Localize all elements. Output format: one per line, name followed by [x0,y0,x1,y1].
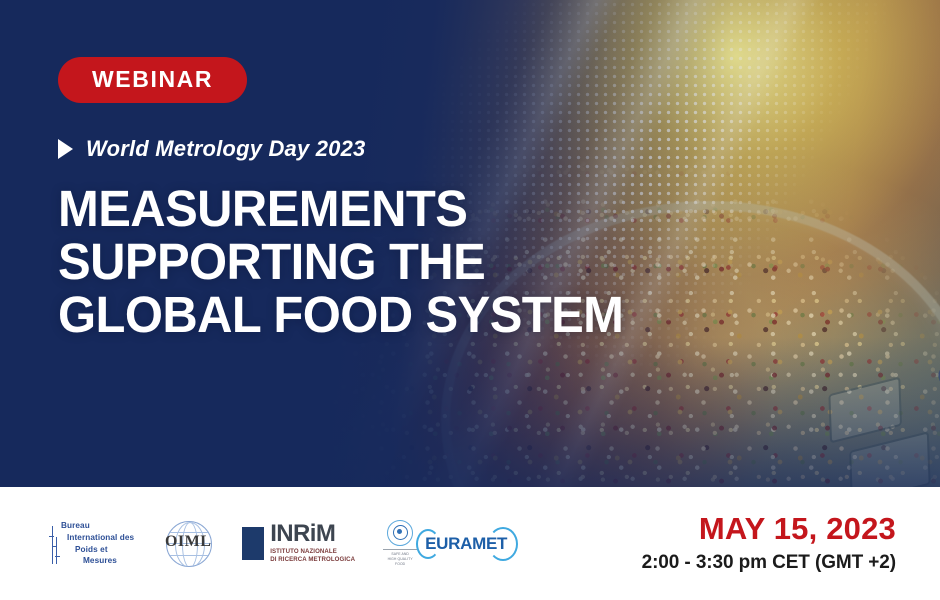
inrim-square-mark [242,527,264,560]
oiml-logo: OIML [162,519,214,569]
euramet-right-arc-icon [488,527,518,561]
event-subtitle: World Metrology Day 2023 [86,136,365,162]
bipm-line-1: Bureau [61,520,134,532]
play-triangle-icon [58,139,73,159]
headline-line-2: SUPPORTING THE [58,235,730,288]
euramet-emblem-icon: SAFE AND HIGH QUALITY FOOD [383,520,417,567]
inrim-subtitle-line-1: ISTITUTO NAZIONALE [270,548,355,556]
headline-line-3: GLOBAL FOOD SYSTEM [58,288,730,341]
bipm-logo-text: Bureau International des Poids et Mesure… [61,522,134,566]
euramet-logo: SAFE AND HIGH QUALITY FOOD EURAMET [383,521,507,567]
bipm-line-4: Mesures [61,555,134,567]
inrim-subtitle: ISTITUTO NAZIONALE DI RICERCA METROLOGIC… [270,548,355,564]
webinar-badge: WEBINAR [58,57,247,103]
euramet-emblem-line-2: HIGH QUALITY FOOD [383,557,417,567]
bipm-scale-mark-icon [48,522,57,566]
subtitle-row: World Metrology Day 2023 [58,136,758,162]
date-block: MAY 15, 2023 2:00 - 3:30 pm CET (GMT +2) [642,513,940,575]
headline-line-1: MEASUREMENTS [58,182,730,235]
headline: MEASUREMENTS SUPPORTING THE GLOBAL FOOD … [58,182,730,341]
euramet-left-arc-icon [416,529,440,559]
event-date: MAY 15, 2023 [642,513,896,546]
webinar-banner: WEBINAR World Metrology Day 2023 MEASURE… [0,0,940,600]
inrim-logo: INRiM ISTITUTO NAZIONALE DI RICERCA METR… [242,522,355,566]
event-time: 2:00 - 3:30 pm CET (GMT +2) [642,552,896,574]
hero-content: WEBINAR World Metrology Day 2023 MEASURE… [58,0,758,341]
oiml-logo-text: OIML [162,533,214,551]
bipm-logo: Bureau International des Poids et Mesure… [48,522,134,566]
footer-bar: Bureau International des Poids et Mesure… [0,487,940,600]
inrim-subtitle-line-2: DI RICERCA METROLOGICA [270,556,355,564]
euramet-emblem-text: SAFE AND HIGH QUALITY FOOD [383,549,417,567]
inrim-logo-text: INRiM [270,523,355,546]
bipm-line-2: International des [61,532,134,544]
bipm-line-3: Poids et [61,544,134,556]
partner-logos: Bureau International des Poids et Mesure… [0,519,507,569]
